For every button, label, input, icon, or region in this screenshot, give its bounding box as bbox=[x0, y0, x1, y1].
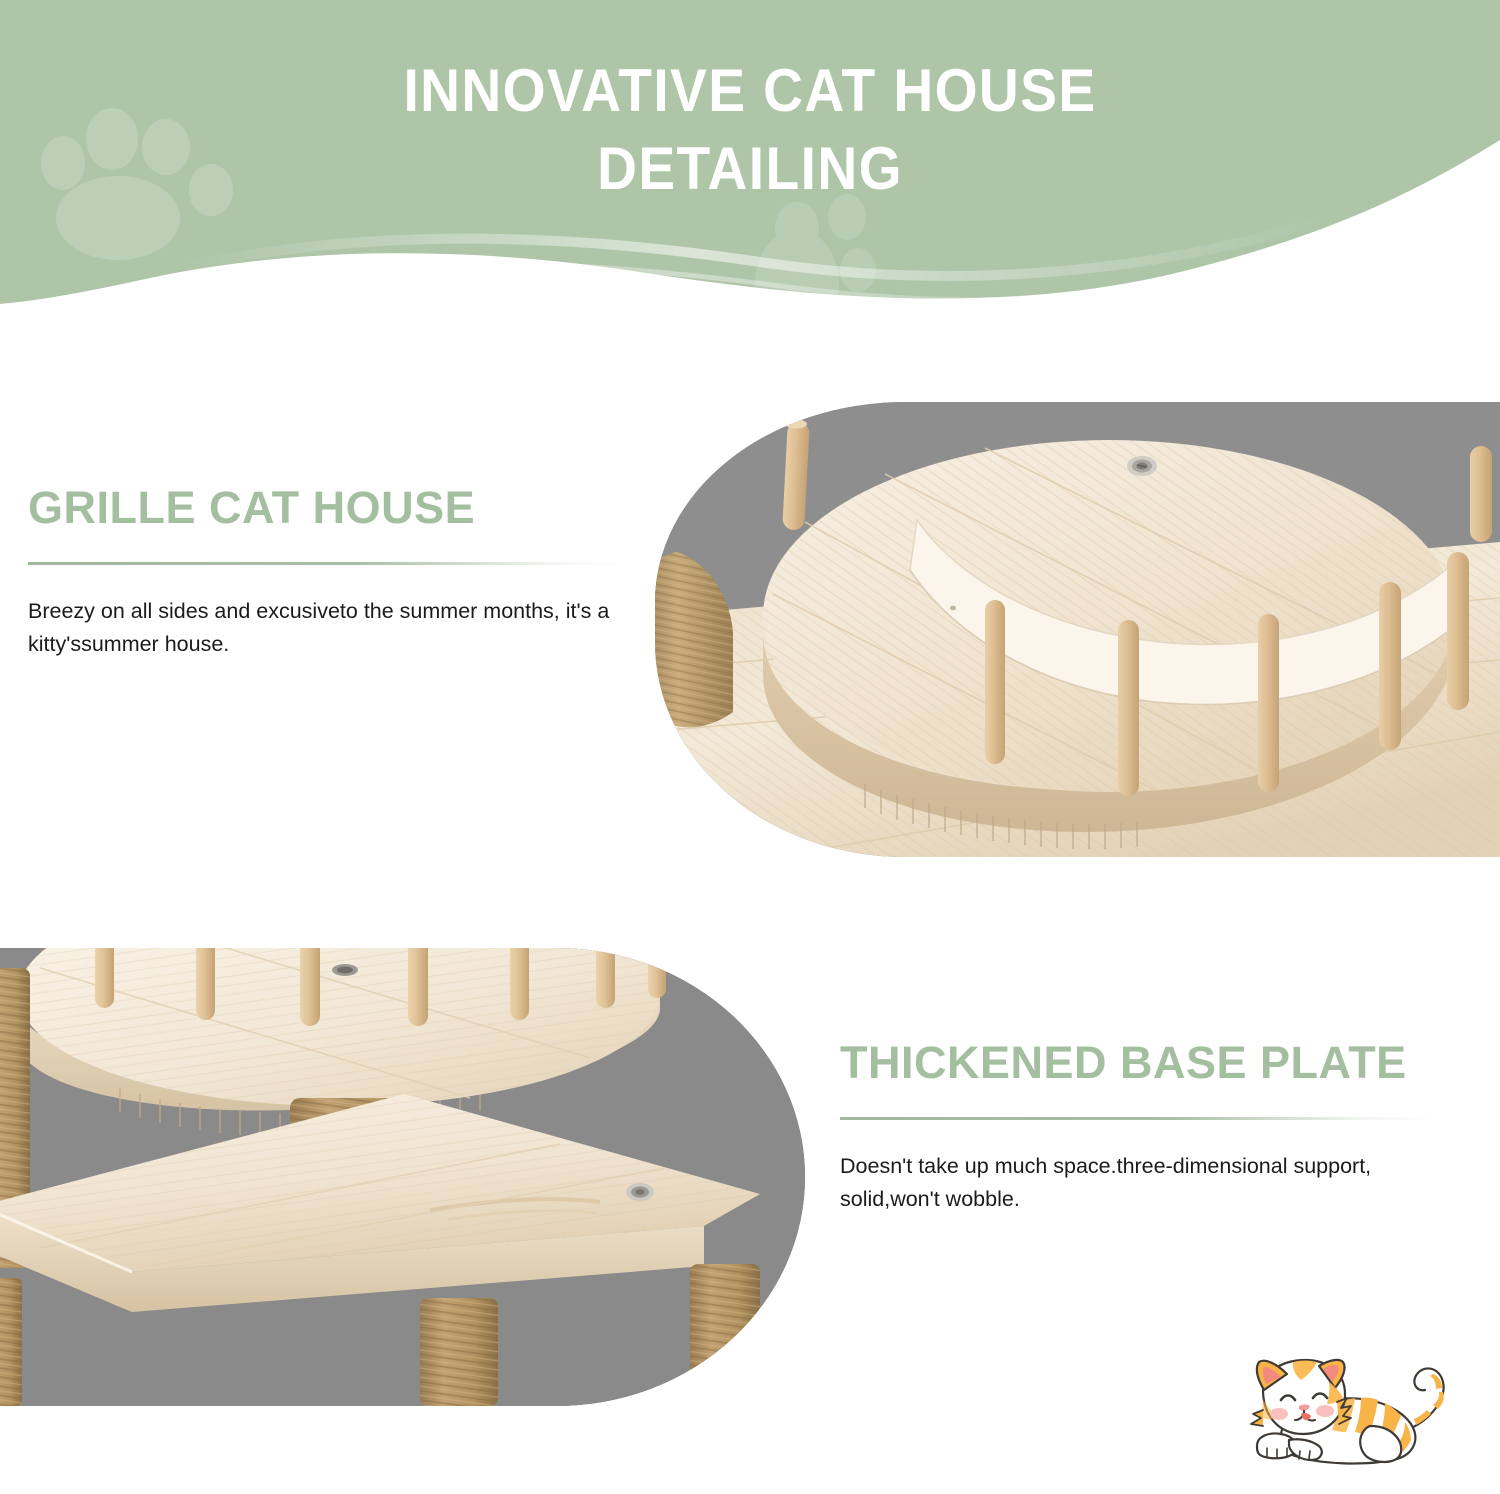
section-2-body: Doesn't take up much space.three-dimensi… bbox=[840, 1150, 1430, 1216]
section-grille-cat-house: GRILLE CAT HOUSE Breezy on all sides and… bbox=[28, 480, 628, 661]
section-2-divider bbox=[840, 1117, 1440, 1120]
section-2-heading: THICKENED BASE PLATE bbox=[840, 1035, 1440, 1091]
thickened-base-plate-illustration bbox=[0, 948, 805, 1406]
product-detail-infographic: INNOVATIVE CAT HOUSE DETAILING GRILLE CA… bbox=[0, 0, 1500, 1494]
screw-fastener bbox=[1127, 456, 1157, 476]
cat-mascot-illustration bbox=[1233, 1356, 1478, 1474]
banner-title-line-2: DETAILING bbox=[60, 130, 1440, 208]
section-thickened-base-plate: THICKENED BASE PLATE Doesn't take up muc… bbox=[840, 1035, 1440, 1216]
grille-cat-house-illustration bbox=[655, 402, 1500, 857]
cat-mascot bbox=[1233, 1356, 1478, 1474]
section-1-body: Breezy on all sides and excusiveto the s… bbox=[28, 595, 618, 661]
header-banner: INNOVATIVE CAT HOUSE DETAILING bbox=[0, 0, 1500, 320]
base-plate-screw bbox=[626, 1183, 654, 1201]
thickened-base-plate-photo bbox=[0, 948, 805, 1406]
section-1-heading: GRILLE CAT HOUSE bbox=[28, 480, 628, 536]
grille-cat-house-photo bbox=[655, 402, 1500, 857]
upper-platform-screw bbox=[332, 964, 358, 976]
dowel-bar-edge bbox=[1470, 446, 1492, 542]
section-1-divider bbox=[28, 562, 628, 565]
banner-title: INNOVATIVE CAT HOUSE DETAILING bbox=[0, 52, 1500, 208]
banner-title-line-1: INNOVATIVE CAT HOUSE bbox=[60, 52, 1440, 130]
